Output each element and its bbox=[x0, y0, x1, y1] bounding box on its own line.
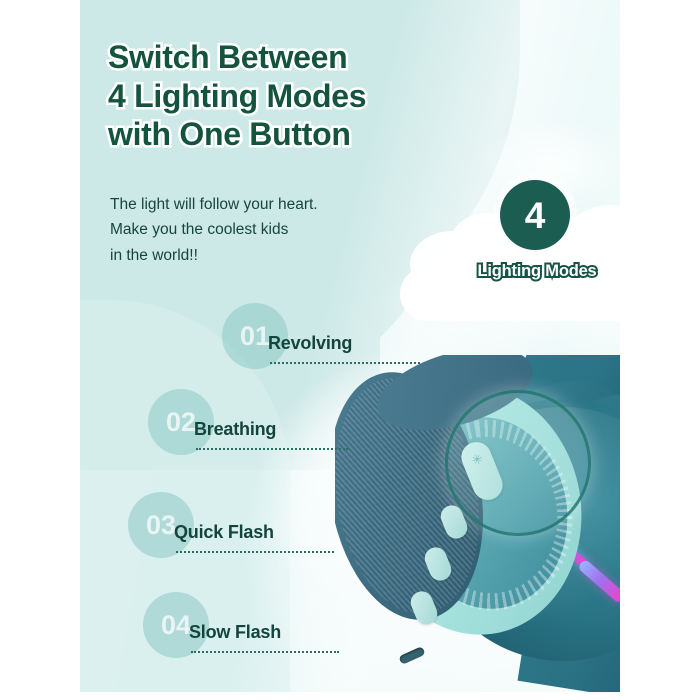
mode-number: 04 bbox=[161, 612, 191, 639]
mode-underline bbox=[191, 648, 339, 653]
mode-name: Revolving bbox=[268, 333, 352, 354]
mode-underline bbox=[176, 548, 334, 553]
headline-line-3: with One Button bbox=[108, 115, 528, 154]
subcopy-line-2: Make you the coolest kids bbox=[110, 217, 440, 242]
mode-name: Quick Flash bbox=[174, 522, 274, 543]
page-title: Switch Between 4 Lighting Modes with One… bbox=[108, 38, 528, 154]
headline-line-1: Switch Between bbox=[108, 38, 528, 77]
subcopy-line-3: in the world!! bbox=[110, 243, 440, 268]
subcopy-line-1: The light will follow your heart. bbox=[110, 192, 440, 217]
badge-number: 4 bbox=[525, 197, 546, 234]
subtitle-copy: The light will follow your heart. Make y… bbox=[110, 192, 440, 268]
badge-label: Lighting Modes bbox=[452, 262, 620, 281]
mode-number: 02 bbox=[166, 409, 196, 436]
background-panel: ✳ Switch Between 4 Lighting Modes with O… bbox=[80, 0, 620, 692]
mode-underline bbox=[270, 359, 420, 364]
mode-number: 03 bbox=[146, 512, 176, 539]
lighting-modes-badge: 4 bbox=[500, 180, 570, 250]
infographic-canvas: ✳ Switch Between 4 Lighting Modes with O… bbox=[0, 0, 700, 700]
mode-name: Breathing bbox=[194, 419, 276, 440]
mode-underline bbox=[196, 445, 348, 450]
mode-name: Slow Flash bbox=[189, 622, 281, 643]
headline-line-2: 4 Lighting Modes bbox=[108, 77, 528, 116]
mode-number: 01 bbox=[240, 323, 270, 350]
